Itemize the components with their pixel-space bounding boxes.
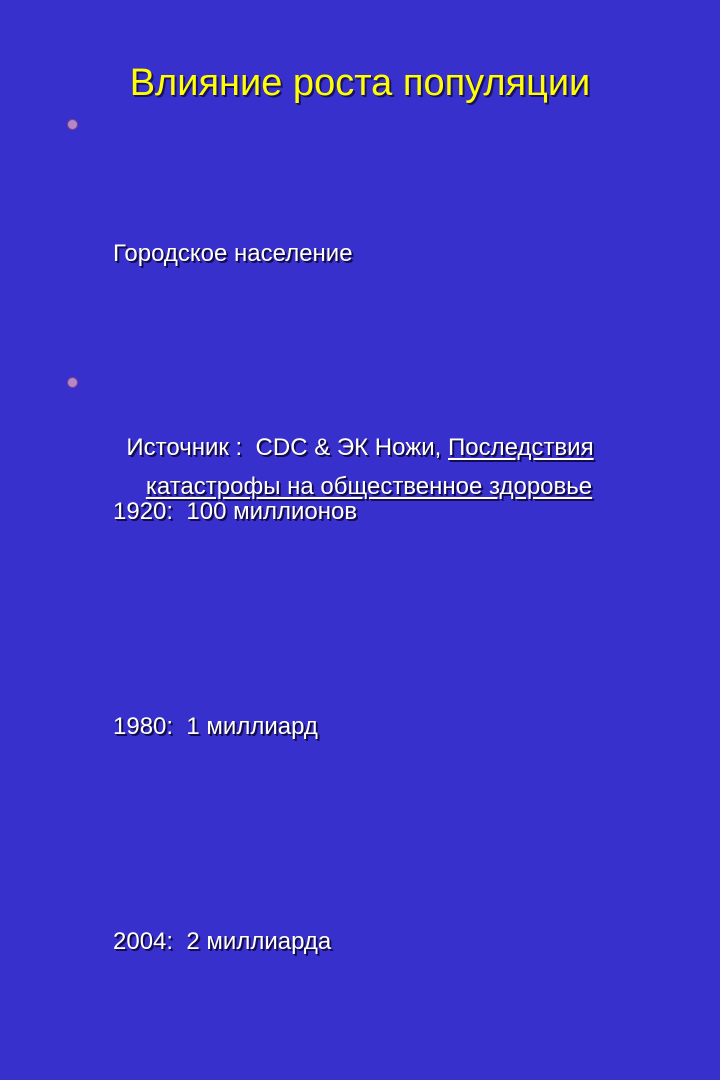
list-gap: [58, 1049, 678, 1080]
source-prefix-label: Источник : CDC & ЭК Ножи,: [126, 434, 448, 461]
source-citation: Источник : CDC & ЭК Ножи, Последствия ка…: [0, 428, 720, 506]
page-title: Влияние роста популяции: [0, 61, 720, 105]
list-item: Городское население: [58, 103, 678, 361]
list-item-label: 2004: 2 миллиарда: [113, 920, 678, 963]
slide: Влияние роста популяции Городское населе…: [0, 0, 720, 540]
source-line-1: Источник : CDC & ЭК Ножи, Последствия: [0, 428, 720, 467]
source-title-part-2: катастрофы на общественное здоровье: [146, 473, 592, 500]
source-line-2: катастрофы на общественное здоровье: [0, 467, 720, 506]
bullet-icon: [68, 120, 77, 129]
list-item: 1980: 1 миллиард: [58, 619, 678, 834]
list-item-label: 1980: 1 миллиард: [113, 705, 678, 748]
bullet-icon: [68, 378, 77, 387]
list-item: 2004: 2 миллиарда: [58, 834, 678, 1049]
bullet-list: Городское население 1920: 100 миллионов …: [58, 103, 678, 1080]
source-title-part-1: Последствия: [448, 434, 594, 461]
list-item-label: Городское население: [113, 232, 678, 275]
